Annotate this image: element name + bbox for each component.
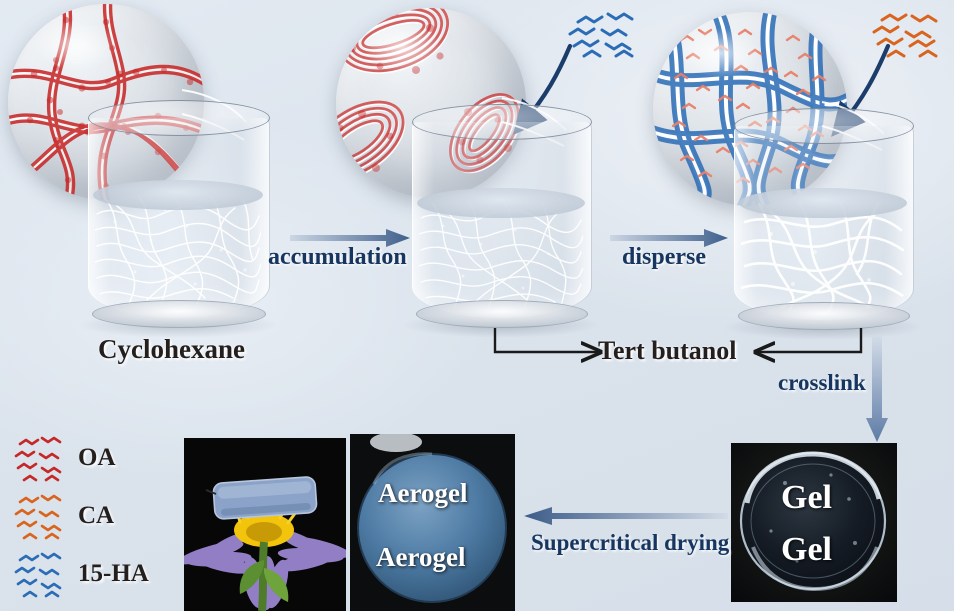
liquid-surface (739, 188, 906, 218)
beaker-base (92, 300, 267, 328)
label-crosslink: crosslink (778, 370, 866, 396)
label-tert-butanol: Tert butanol (598, 336, 736, 366)
aerogel-disc-photo: Aerogel Aerogel (350, 434, 515, 611)
aerogel-caption-bottom: Aerogel (376, 542, 465, 573)
label-accumulation: accumulation (268, 244, 407, 271)
figure-canvas: Cyclohexane accumulation (0, 0, 954, 611)
beaker-rim (88, 100, 270, 136)
beaker-rim (412, 104, 592, 140)
legend-label-ca: CA (78, 502, 114, 530)
label-disperse: disperse (622, 244, 706, 271)
liquid-surface (93, 180, 262, 210)
beaker-base (416, 300, 589, 328)
aerogel-on-flower-photo (184, 438, 346, 611)
aerogel-caption-top: Aerogel (378, 478, 467, 509)
gel-disc-photo: Gel Gel (731, 443, 897, 602)
beaker-tert-butanol-2 (734, 108, 912, 320)
squiggle-cluster-icon (10, 490, 68, 544)
bracket-arrow-right-to-tert-butanol (744, 326, 864, 362)
legend-label-oa: OA (78, 444, 116, 472)
arrow-crosslink (866, 336, 888, 442)
legend-item-15-ha: 15-HA (8, 548, 178, 606)
beaker-tert-butanol-1 (412, 104, 590, 318)
beaker-cyclohexane (88, 100, 268, 318)
squiggle-cluster-icon (10, 432, 68, 486)
beaker-rim (734, 108, 914, 144)
legend-label-15-ha: 15-HA (78, 560, 149, 588)
legend: OA CA 15-HA (8, 432, 178, 606)
bracket-arrow-left-to-tert-butanol (492, 326, 612, 362)
liquid-surface (417, 188, 584, 218)
legend-item-oa: OA (8, 432, 178, 490)
arrow-supercritical-drying (524, 506, 728, 526)
label-supercritical-drying: Supercritical drying (531, 530, 729, 556)
squiggle-cluster-icon (10, 548, 68, 602)
label-cyclohexane: Cyclohexane (98, 334, 245, 365)
gel-caption-bottom: Gel (781, 531, 832, 569)
legend-item-ca: CA (8, 490, 178, 548)
gel-caption-top: Gel (781, 479, 832, 517)
